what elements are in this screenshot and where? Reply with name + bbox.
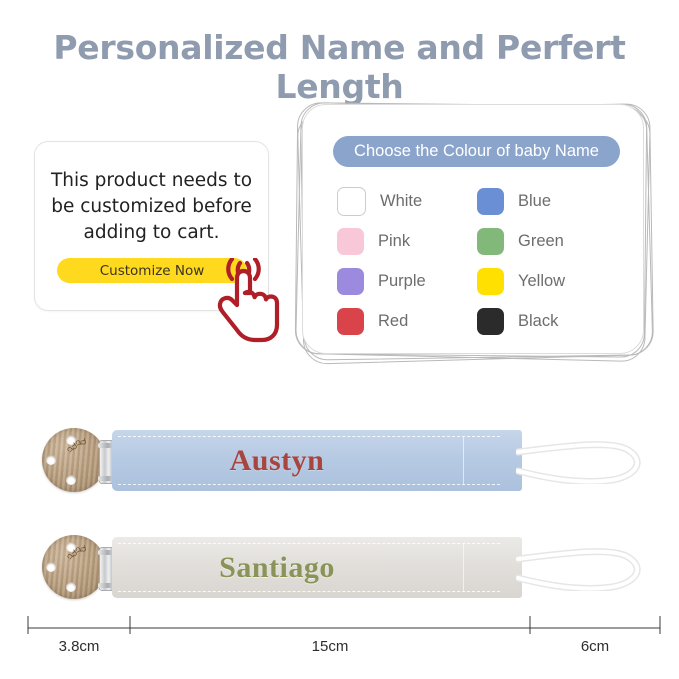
colour-picker-card: Choose the Colour of baby Name White Blu… bbox=[302, 104, 644, 354]
colour-option-yellow[interactable]: Yellow bbox=[477, 268, 627, 295]
colour-option-green[interactable]: Green bbox=[477, 228, 627, 255]
colour-picker-title: Choose the Colour of baby Name bbox=[333, 136, 620, 167]
colour-swatch-blue bbox=[477, 188, 504, 215]
colour-swatch-red bbox=[337, 308, 364, 335]
colour-swatch-green bbox=[477, 228, 504, 255]
measure-label-loop: 6cm bbox=[530, 638, 660, 655]
colour-option-black[interactable]: Black bbox=[477, 308, 627, 335]
wooden-clip-disc: ԲԵԲԵ bbox=[42, 428, 106, 492]
colour-label-black: Black bbox=[518, 312, 558, 331]
silicone-loop bbox=[516, 545, 650, 591]
strap-stitch bbox=[118, 543, 500, 544]
colour-label-white: White bbox=[380, 192, 422, 211]
strap-stitch bbox=[118, 484, 500, 485]
fabric-strap: Santiago bbox=[112, 537, 522, 598]
colour-swatch-black bbox=[477, 308, 504, 335]
clip-engraving-icon: ԲԵԲԵ bbox=[42, 535, 106, 599]
colour-swatch-pink bbox=[337, 228, 364, 255]
pacifier-clip-product-2: ԲԵԲԵ Santiago bbox=[0, 521, 679, 617]
pacifier-clip-product-1: ԲԵԲԵ Austyn bbox=[0, 414, 679, 510]
colour-label-purple: Purple bbox=[378, 272, 426, 291]
colour-swatch-white bbox=[337, 187, 366, 216]
colour-option-blue[interactable]: Blue bbox=[477, 188, 627, 215]
customization-notice-text: This product needs to be customized befo… bbox=[47, 168, 256, 246]
svg-text:ԲԵԲԵ: ԲԵԲԵ bbox=[65, 543, 88, 562]
measurement-labels: 3.8cm 15cm 6cm bbox=[0, 638, 679, 662]
strap-stitch bbox=[118, 436, 500, 437]
colour-options-grid: White Blue Pink Green Purple Yellow bbox=[337, 181, 627, 341]
embroidered-name: Austyn bbox=[112, 444, 522, 478]
embroidered-name: Santiago bbox=[112, 551, 522, 585]
colour-option-pink[interactable]: Pink bbox=[337, 228, 477, 255]
page-title: Personalized Name and Perfert Length bbox=[0, 28, 679, 106]
colour-option-red[interactable]: Red bbox=[337, 308, 477, 335]
svg-text:ԲԵԲԵ: ԲԵԲԵ bbox=[65, 436, 88, 455]
colour-label-green: Green bbox=[518, 232, 564, 251]
colour-option-purple[interactable]: Purple bbox=[337, 268, 477, 295]
measurement-ruler bbox=[0, 612, 679, 638]
silicone-loop bbox=[516, 438, 650, 484]
colour-swatch-yellow bbox=[477, 268, 504, 295]
colour-picker-card-stack: Choose the Colour of baby Name White Blu… bbox=[298, 104, 648, 357]
customization-notice-card: This product needs to be customized befo… bbox=[34, 141, 269, 311]
colour-label-red: Red bbox=[378, 312, 408, 331]
clip-engraving-icon: ԲԵԲԵ bbox=[42, 428, 106, 492]
fabric-strap: Austyn bbox=[112, 430, 522, 491]
colour-option-white[interactable]: White bbox=[337, 187, 477, 216]
customize-now-button[interactable]: Customize Now bbox=[57, 258, 247, 283]
strap-stitch bbox=[118, 591, 500, 592]
measure-label-clip: 3.8cm bbox=[28, 638, 130, 655]
measure-label-strap: 15cm bbox=[130, 638, 530, 655]
colour-label-yellow: Yellow bbox=[518, 272, 565, 291]
wooden-clip-disc: ԲԵԲԵ bbox=[42, 535, 106, 599]
colour-swatch-purple bbox=[337, 268, 364, 295]
colour-label-pink: Pink bbox=[378, 232, 410, 251]
colour-label-blue: Blue bbox=[518, 192, 551, 211]
